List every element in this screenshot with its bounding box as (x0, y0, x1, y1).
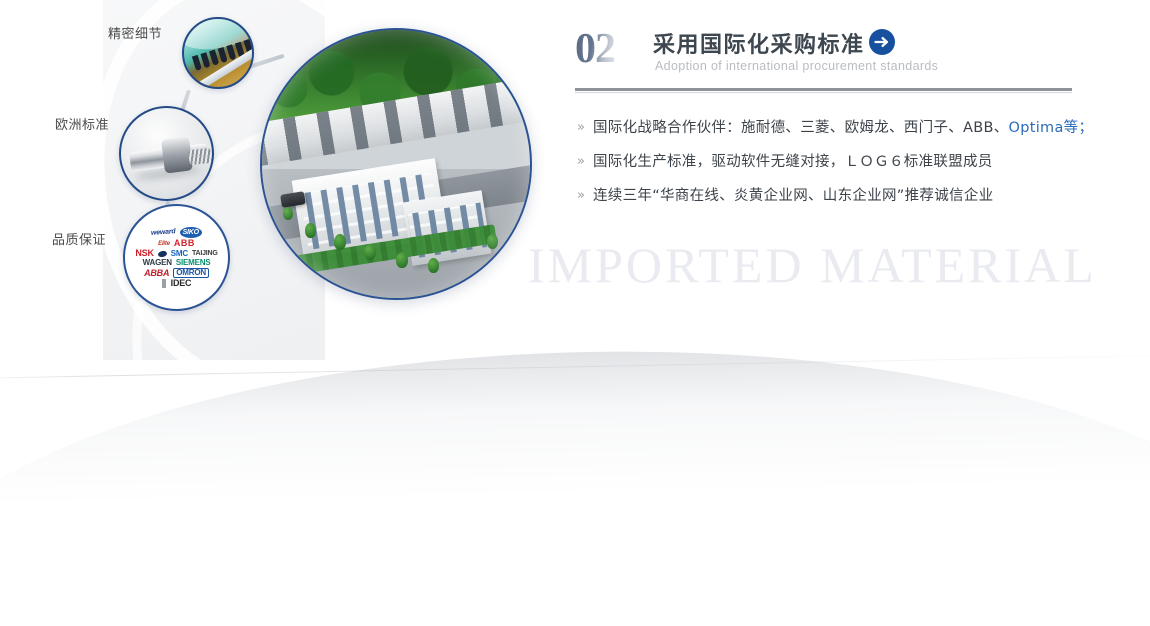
logo-taijing: TAIJING (192, 250, 218, 257)
idec-bar-icon (162, 279, 166, 288)
bubble-ball-screw-photo (119, 106, 214, 201)
bullet-chevron-icon: » (577, 186, 593, 206)
list-item: » 国际化战略合作伙伴：施耐德、三菱、欧姆龙、西门子、ABB、Optima等； (577, 118, 1097, 138)
logo-omron: OMRON (173, 268, 209, 278)
divider-thick-rule (575, 88, 1072, 91)
page-title: 采用国际化采购标准 (653, 27, 865, 59)
logo-wagen: WAGEN (143, 259, 172, 267)
list-item: » 连续三年“华商在线、炎黄企业网、山东企业网”推荐诚信企业 (577, 186, 1097, 206)
bullet-text: 国际化战略合作伙伴：施耐德、三菱、欧姆龙、西门子、ABB、Optima等； (593, 118, 1093, 138)
bullet-text: 国际化生产标准，驱动软件无缝对接，ＬＯＧ６标准联盟成员 (593, 152, 993, 172)
bullet-text-plain: 国际化战略合作伙伴：施耐德、三菱、欧姆龙、西门子、ABB、 (593, 120, 1009, 136)
logo-smc: SMC (171, 250, 188, 258)
bullet-text-highlight: Optima等； (1009, 120, 1094, 136)
bubble-gear-detail-photo (182, 17, 254, 89)
bubble-factory-aerial-photo (260, 28, 532, 300)
divider-thin-rule (575, 92, 1072, 93)
header-divider (575, 88, 1072, 93)
logo-siemens: SIEMENS (176, 259, 211, 267)
feature-bullet-list: » 国际化战略合作伙伴：施耐德、三菱、欧姆龙、西门子、ABB、Optima等； … (577, 118, 1097, 220)
ball-screw-thread (188, 148, 212, 166)
section-header: 02 采用国际化采购标准 Adoption of international p… (575, 22, 1095, 86)
bubble-brand-logos: weward SIKO Elite ABB NSK SMC TAIJING WA… (123, 204, 230, 311)
label-quality-assurance: 品质保证 (52, 229, 106, 248)
background-watermark-text: IMPORTED MATERIAL (528, 236, 1097, 294)
page-stage: 精密细节 欧洲标准 品质保证 weward SIKO Elite ABB (0, 0, 1150, 430)
logo-nsk: NSK (135, 249, 153, 258)
logo-idec: IDEC (171, 279, 192, 288)
logo-siko: SIKO (180, 227, 202, 238)
list-item: » 国际化生产标准，驱动软件无缝对接，ＬＯＧ６标准联盟成员 (577, 152, 1097, 172)
logo-abba: ABBA (144, 269, 169, 278)
brand-row: IDEC (129, 279, 224, 288)
smc-dot-icon (157, 250, 167, 258)
logo-elite: Elite (158, 241, 170, 247)
factory-photo-vignette (262, 30, 530, 298)
bullet-chevron-icon: » (577, 152, 593, 172)
brand-row: WAGEN SIEMENS (129, 259, 224, 267)
brand-row: ABBA OMRON (129, 268, 224, 278)
brand-logo-grid: weward SIKO Elite ABB NSK SMC TAIJING WA… (125, 206, 228, 309)
brand-row: NSK SMC TAIJING (129, 249, 224, 258)
brand-row: weward SIKO (129, 227, 224, 238)
label-precision-detail: 精密细节 (108, 23, 162, 42)
arrow-right-circle-icon[interactable] (868, 28, 896, 56)
bullet-chevron-icon: » (577, 118, 593, 138)
logo-abb: ABB (174, 239, 195, 248)
section-number-badge: 02 (575, 28, 615, 70)
bottom-curved-shadow (0, 338, 1150, 625)
label-european-standard: 欧洲标准 (55, 114, 109, 133)
section-subtitle: Adoption of international procurement st… (655, 59, 938, 73)
bullet-text: 连续三年“华商在线、炎黄企业网、山东企业网”推荐诚信企业 (593, 186, 993, 206)
brand-row: Elite ABB (129, 239, 224, 248)
logo-weward: weward (151, 228, 176, 237)
right-content-column: 02 采用国际化采购标准 Adoption of international p… (575, 22, 1095, 86)
